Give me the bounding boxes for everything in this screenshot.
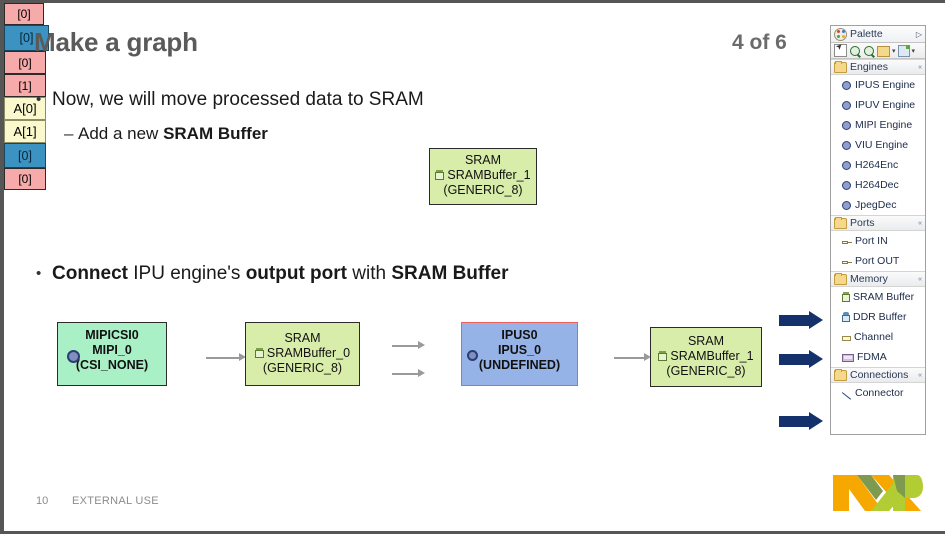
ipus-engine-node[interactable]: IPUS0 IPUS_0 (UNDEFINED) (461, 322, 578, 386)
bullet-2-mid-2: with (347, 263, 391, 284)
connector-arrow-3 (418, 369, 425, 377)
ipus-line-3: (UNDEFINED) (462, 358, 577, 373)
footer-page-number: 10 (36, 495, 48, 507)
palette-item-label: Connector (855, 387, 903, 399)
bullet-1-text: Now, we will move processed data to SRAM (52, 89, 424, 110)
collapse-chevron-icon-memory[interactable]: « (918, 276, 922, 283)
top-sram-line-2: SRAMBuffer_1 (430, 168, 536, 183)
engine-icon (842, 121, 851, 130)
palette-item-label: JpegDec (855, 199, 896, 211)
palette-item-ddr-buffer[interactable]: DDR Buffer (831, 307, 925, 327)
select-tool-arrow-icon[interactable] (834, 44, 847, 57)
collapse-chevron-icon-ports[interactable]: « (918, 220, 922, 227)
palette-item-ipus-engine[interactable]: IPUS Engine (831, 75, 925, 95)
palette-item-viu-engine[interactable]: VIU Engine (831, 135, 925, 155)
folder-dropdown-chevron-down-icon[interactable]: ▾ (892, 47, 896, 55)
sram1-line-2: SRAMBuffer_1 (651, 349, 761, 364)
palette-item-label: FDMA (857, 351, 887, 363)
arrow-to-sram-buffer (779, 311, 825, 329)
collapse-chevron-icon-connections[interactable]: « (918, 372, 922, 379)
engine-icon (842, 181, 851, 190)
palette-item-label: H264Dec (855, 179, 899, 191)
top-sram-port[interactable]: [0] (4, 3, 44, 25)
zoom-in-icon[interactable] (850, 46, 860, 56)
ipus-output-port[interactable]: [0] (4, 143, 46, 168)
ddr-buffer-icon (842, 312, 850, 322)
palette-panel[interactable]: Palette ▷ ▾ ▾ Engines « IPUS Engine IPUV… (830, 25, 926, 435)
palette-item-fdma[interactable]: FDMA (831, 347, 925, 367)
engine-icon (842, 141, 851, 150)
new-dropdown-chevron-down-icon[interactable]: ▾ (912, 47, 916, 55)
folder-icon-memory (834, 274, 847, 285)
collapse-chevron-icon-engines[interactable]: « (918, 64, 922, 71)
mipi-line-1: MIPICSI0 (58, 328, 166, 343)
palette-item-ipuv-engine[interactable]: IPUV Engine (831, 95, 925, 115)
new-document-icon[interactable] (898, 45, 910, 57)
arrow-to-connector (779, 412, 825, 430)
palette-item-h264dec[interactable]: H264Dec (831, 175, 925, 195)
palette-toolbar[interactable]: ▾ ▾ (831, 43, 925, 59)
sram-buffer-1-node[interactable]: SRAM SRAMBuffer_1 (GENERIC_8) (650, 327, 762, 387)
fdma-icon (842, 354, 854, 362)
palette-item-label: IPUS Engine (855, 79, 915, 91)
palette-item-label: Port OUT (855, 255, 899, 267)
palette-icon (834, 28, 847, 41)
ipus-engine-gear-icon (467, 350, 478, 361)
mipi-engine-gear-icon (67, 350, 80, 363)
palette-item-label: Channel (854, 331, 893, 343)
sram1-line-1: SRAM (651, 334, 761, 349)
palette-item-channel[interactable]: Channel (831, 327, 925, 347)
sram-buffer-icon (842, 292, 850, 302)
channel-icon (842, 336, 851, 341)
connector-line-2 (392, 345, 420, 347)
ipus-line-1: IPUS0 (462, 328, 577, 343)
bullet-2-bold-2: output port (246, 263, 347, 284)
sram0-line-1: SRAM (246, 331, 359, 346)
sram0-line-3: (GENERIC_8) (246, 361, 359, 376)
palette-item-port-in[interactable]: Port IN (831, 231, 925, 251)
bullet-1-sub-text: Add a new (78, 124, 163, 143)
palette-item-label: Port IN (855, 235, 888, 247)
palette-item-h264enc[interactable]: H264Enc (831, 155, 925, 175)
palette-title-bar: Palette ▷ (831, 26, 925, 43)
palette-item-mipi-engine[interactable]: MIPI Engine (831, 115, 925, 135)
memory-icon-2 (255, 348, 264, 358)
connector-line-1 (206, 357, 241, 359)
engine-icon (842, 161, 851, 170)
page-title: Make a graph (34, 27, 198, 58)
folder-icon-ports (834, 218, 847, 229)
connector-line-4 (614, 357, 646, 359)
folder-icon-engines (834, 62, 847, 73)
palette-group-ports-label: Ports (850, 217, 915, 229)
connector-arrow-2 (418, 341, 425, 349)
folder-icon[interactable] (877, 46, 890, 57)
engine-icon (842, 201, 851, 210)
footer-label: EXTERNAL USE (72, 495, 159, 507)
engine-icon (842, 81, 851, 90)
port-icon (842, 260, 852, 265)
palette-item-label: H264Enc (855, 159, 898, 171)
palette-item-label: DDR Buffer (853, 311, 907, 323)
bullet-2: •Connect IPU engine's output port with S… (36, 263, 509, 285)
sram1-line-3: (GENERIC_8) (651, 364, 761, 379)
top-sram-buffer-node[interactable]: SRAM SRAMBuffer_1 (GENERIC_8) (429, 148, 537, 205)
zoom-out-icon[interactable] (864, 46, 874, 56)
sram0-line-2: SRAMBuffer_0 (246, 346, 359, 361)
palette-group-memory-label: Memory (850, 273, 915, 285)
palette-item-label: VIU Engine (855, 139, 908, 151)
bullet-1: •Now, we will move processed data to SRA… (36, 89, 424, 111)
palette-title-label: Palette (850, 28, 913, 40)
bullet-2-mid-1: IPU engine's (128, 263, 246, 284)
palette-item-sram-buffer[interactable]: SRAM Buffer (831, 287, 925, 307)
bullet-dot-icon: • (36, 91, 52, 108)
bullet-1-sub-bold: SRAM Buffer (163, 124, 268, 143)
palette-item-label: MIPI Engine (855, 119, 912, 131)
top-sram-line-3: (GENERIC_8) (430, 183, 536, 198)
palette-group-ports[interactable]: Ports « (831, 215, 925, 231)
bullet-1-sub: –Add a new SRAM Buffer (64, 124, 268, 144)
bullet-2-bold-3: SRAM Buffer (391, 263, 508, 284)
port-icon (842, 240, 852, 245)
channel-a1[interactable]: A[1] (4, 120, 46, 143)
engine-icon (842, 101, 851, 110)
palette-group-memory[interactable]: Memory « (831, 271, 925, 287)
memory-icon-3 (658, 351, 667, 361)
sram1-port-0[interactable]: [0] (4, 168, 46, 190)
connector-icon (842, 388, 852, 398)
slide-canvas: Make a graph 4 of 6 •Now, we will move p… (0, 0, 945, 534)
palette-item-label: SRAM Buffer (853, 291, 914, 303)
palette-item-label: IPUV Engine (855, 99, 915, 111)
folder-icon-connections (834, 370, 847, 381)
palette-group-connections-label: Connections (850, 369, 915, 381)
bullet-dot-icon-2: • (36, 265, 52, 282)
ipus-line-2: IPUS_0 (462, 343, 577, 358)
top-sram-line-1: SRAM (430, 153, 536, 168)
palette-item-jpegdec[interactable]: JpegDec (831, 195, 925, 215)
sram-buffer-0-node[interactable]: SRAM SRAMBuffer_0 (GENERIC_8) (245, 322, 360, 386)
bullet-dash-icon: – (64, 124, 78, 144)
connector-line-3 (392, 373, 420, 375)
page-counter: 4 of 6 (732, 31, 787, 55)
bullet-2-bold-1: Connect (52, 263, 128, 284)
palette-collapse-icon[interactable]: ▷ (916, 30, 922, 39)
palette-group-engines-label: Engines (850, 61, 915, 73)
nxp-logo (831, 471, 923, 515)
arrow-to-channel (779, 350, 825, 368)
palette-group-connections[interactable]: Connections « (831, 367, 925, 383)
palette-group-engines[interactable]: Engines « (831, 59, 925, 75)
palette-item-port-out[interactable]: Port OUT (831, 251, 925, 271)
memory-icon (435, 170, 444, 180)
palette-item-connector[interactable]: Connector (831, 383, 925, 403)
